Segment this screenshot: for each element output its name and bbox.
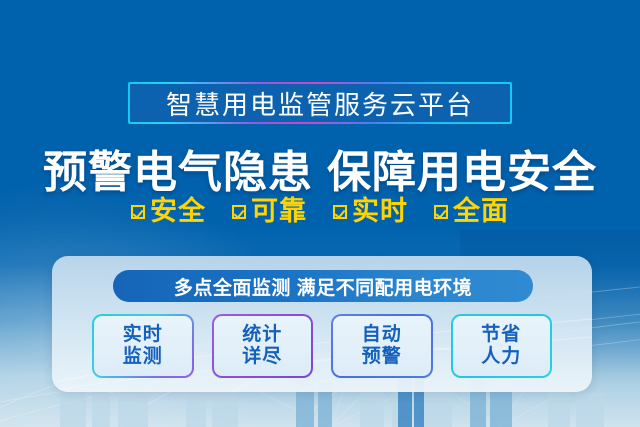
check-item-security: 安全 bbox=[131, 198, 206, 225]
checkbox-checked-icon bbox=[333, 205, 347, 219]
feature-card-line-2: 预警 bbox=[362, 346, 402, 368]
feature-card-detailed-statistics[interactable]: 统计 详尽 bbox=[212, 314, 314, 378]
feature-card-line-1: 实时 bbox=[123, 324, 163, 346]
headline-part-2: 保障用电安全 bbox=[327, 148, 597, 197]
platform-title-badge-inner: 智慧用电监管服务云平台 bbox=[130, 84, 510, 122]
check-item-realtime: 实时 bbox=[333, 198, 408, 225]
feature-card-line-2: 人力 bbox=[481, 346, 521, 368]
check-item-reliable: 可靠 bbox=[232, 198, 307, 225]
check-label-realtime: 实时 bbox=[352, 198, 408, 225]
check-item-comprehensive: 全面 bbox=[434, 198, 509, 225]
check-label-reliable: 可靠 bbox=[251, 198, 307, 225]
feature-card-save-manpower-inner: 节省 人力 bbox=[453, 316, 551, 376]
feature-card-realtime-monitoring[interactable]: 实时 监测 bbox=[92, 314, 194, 378]
checkbox-checked-icon bbox=[434, 205, 448, 219]
feature-card-realtime-monitoring-inner: 实时 监测 bbox=[94, 316, 192, 376]
check-label-comprehensive: 全面 bbox=[453, 198, 509, 225]
check-label-security: 安全 bbox=[150, 198, 206, 225]
platform-title-text: 智慧用电监管服务云平台 bbox=[166, 85, 474, 122]
panel-pill-text: 多点全面监测 满足不同配用电环境 bbox=[174, 273, 472, 300]
promo-poster: 智慧用电监管服务云平台 预警电气隐患保障用电安全 安全 可靠 实时 全面 bbox=[0, 0, 640, 427]
feature-card-detailed-statistics-inner: 统计 详尽 bbox=[214, 316, 312, 376]
feature-panel: 多点全面监测 满足不同配用电环境 实时 监测 统计 详尽 自动 预警 bbox=[52, 256, 592, 392]
checkbox-checked-icon bbox=[232, 205, 246, 219]
feature-card-save-manpower[interactable]: 节省 人力 bbox=[451, 314, 553, 378]
headline-part-1: 预警电气隐患 bbox=[43, 148, 313, 197]
feature-card-automatic-alert[interactable]: 自动 预警 bbox=[331, 314, 433, 378]
feature-card-line-1: 节省 bbox=[481, 324, 521, 346]
check-feature-row: 安全 可靠 实时 全面 bbox=[0, 198, 640, 225]
checkbox-checked-icon bbox=[131, 205, 145, 219]
feature-card-line-2: 监测 bbox=[123, 346, 163, 368]
feature-card-line-1: 自动 bbox=[362, 324, 402, 346]
feature-card-line-2: 详尽 bbox=[242, 346, 282, 368]
feature-card-list: 实时 监测 统计 详尽 自动 预警 节省 人力 bbox=[92, 314, 552, 378]
feature-card-line-1: 统计 bbox=[242, 324, 282, 346]
feature-card-automatic-alert-inner: 自动 预警 bbox=[333, 316, 431, 376]
panel-pill-banner: 多点全面监测 满足不同配用电环境 bbox=[113, 270, 533, 302]
headline: 预警电气隐患保障用电安全 bbox=[0, 136, 640, 200]
platform-title-badge: 智慧用电监管服务云平台 bbox=[128, 82, 512, 124]
